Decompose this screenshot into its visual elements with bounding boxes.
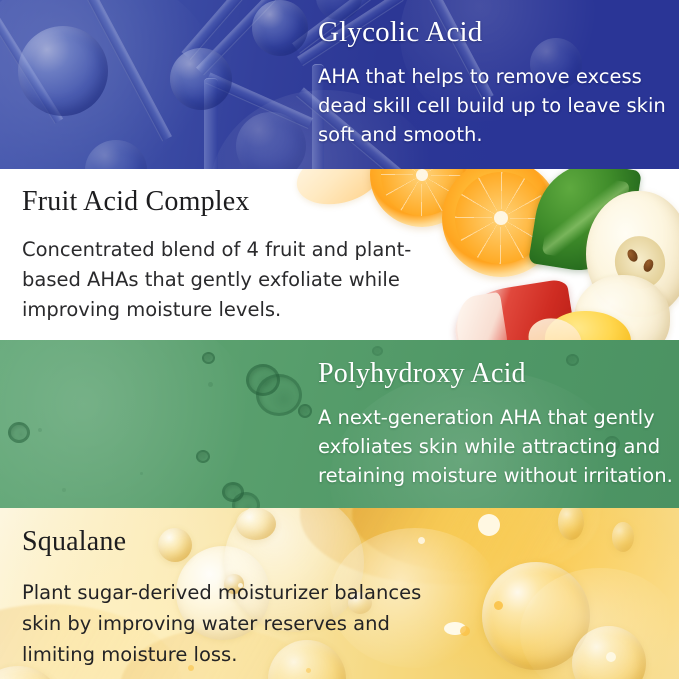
polyhydroxy-title: Polyhydroxy Acid	[318, 355, 674, 393]
glycolic-text-block: Glycolic Acid AHA that helps to remove e…	[318, 12, 670, 149]
squalane-description: Plant sugar-derived moisturizer balances…	[22, 577, 452, 670]
glycolic-description: AHA that helps to remove excess dead ski…	[318, 62, 670, 149]
panel-fruit-acid-complex: Fruit Acid Complex Concentrated blend of…	[0, 169, 679, 340]
panel-glycolic-acid: Glycolic Acid AHA that helps to remove e…	[0, 0, 679, 169]
ingredient-infographic: Glycolic Acid AHA that helps to remove e…	[0, 0, 679, 679]
panel-squalane: Squalane Plant sugar-derived moisturizer…	[0, 508, 679, 679]
fruit-title: Fruit Acid Complex	[22, 183, 442, 221]
glycolic-title: Glycolic Acid	[318, 12, 670, 52]
fruit-text-block: Fruit Acid Complex Concentrated blend of…	[22, 183, 442, 325]
fruit-description: Concentrated blend of 4 fruit and plant-…	[22, 235, 442, 325]
polyhydroxy-text-block: Polyhydroxy Acid A next-generation AHA t…	[318, 355, 674, 490]
panel-polyhydroxy-acid: Polyhydroxy Acid A next-generation AHA t…	[0, 340, 679, 508]
polyhydroxy-description: A next-generation AHA that gently exfoli…	[318, 403, 674, 490]
squalane-text-block: Squalane Plant sugar-derived moisturizer…	[22, 523, 452, 670]
squalane-title: Squalane	[22, 523, 452, 561]
